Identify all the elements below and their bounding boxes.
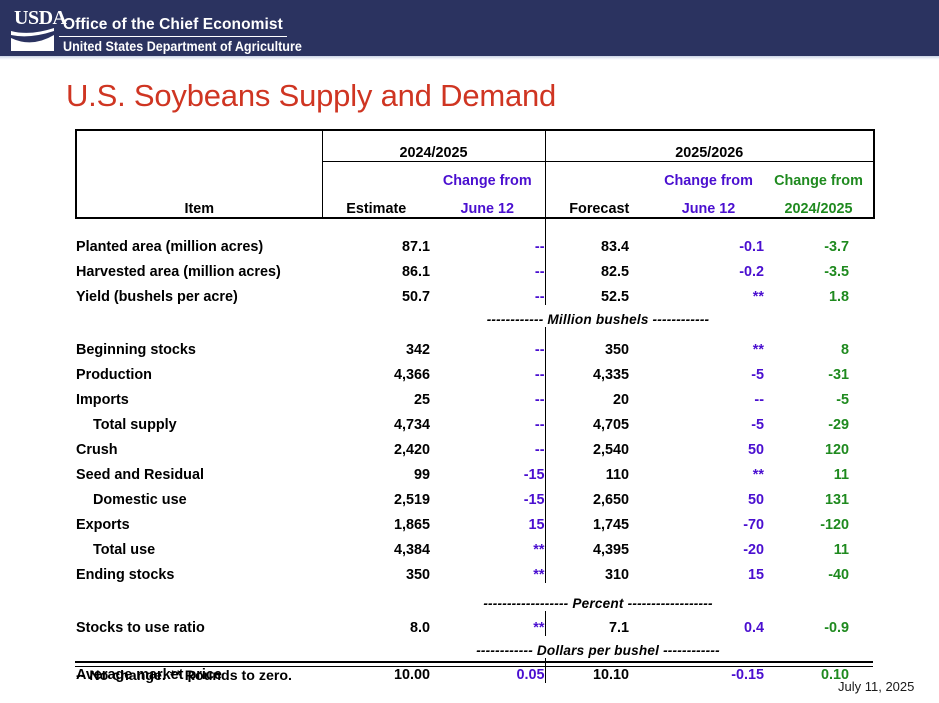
row-change-june-2425: **: [430, 558, 545, 583]
row-label: Ending stocks: [76, 558, 322, 583]
row-forecast: 1,745: [545, 508, 653, 533]
table-row: Ending stocks 350 ** 310 15 -40: [76, 558, 874, 583]
header-estimate: Estimate: [322, 189, 430, 218]
usda-swoosh-icon: [10, 26, 62, 52]
row-change-year: -29: [764, 408, 874, 433]
group-header-2025-2026: 2025/2026: [545, 130, 874, 162]
unit-caption-blank: [76, 636, 322, 658]
header-change-year-line1: Change from: [764, 162, 874, 190]
row-label: Imports: [76, 383, 322, 408]
row-estimate: 2,420: [322, 433, 430, 458]
row-label: Planted area (million acres): [76, 230, 322, 255]
unit-caption-row: ------------ Million bushels -----------…: [76, 305, 874, 327]
spacer-row: [76, 218, 874, 230]
row-change-june-2526: -0.1: [653, 230, 764, 255]
row-change-june-2425: --: [430, 358, 545, 383]
row-change-year: 11: [764, 533, 874, 558]
row-change-year: -120: [764, 508, 874, 533]
header-row-sub-line1: Change from Change from Change from: [76, 162, 874, 190]
row-change-june-2425: --: [430, 280, 545, 305]
row-change-year: -0.9: [764, 611, 874, 636]
header-item-blank: [76, 162, 322, 190]
unit-caption-row: ------------ Dollars per bushel --------…: [76, 636, 874, 658]
table-row: Seed and Residual 99 -15 110 ** 11: [76, 458, 874, 483]
row-change-year: -5: [764, 383, 874, 408]
row-estimate: 50.7: [322, 280, 430, 305]
row-change-june-2526: --: [653, 383, 764, 408]
row-forecast: 110: [545, 458, 653, 483]
table-header: 2024/2025 2025/2026 Change from Change f…: [76, 130, 874, 218]
row-change-june-2425: **: [430, 533, 545, 558]
row-label: Crush: [76, 433, 322, 458]
row-forecast: 2,650: [545, 483, 653, 508]
row-change-june-2526: -70: [653, 508, 764, 533]
date-stamp: July 11, 2025: [838, 679, 914, 694]
row-change-june-2526: -0.2: [653, 255, 764, 280]
row-forecast: 350: [545, 333, 653, 358]
page-title: U.S. Soybeans Supply and Demand: [66, 78, 556, 114]
table-row: Imports 25 -- 20 -- -5: [76, 383, 874, 408]
unit-caption-percent: ------------------ Percent -------------…: [322, 589, 874, 611]
row-forecast: 2,540: [545, 433, 653, 458]
row-forecast: 4,395: [545, 533, 653, 558]
row-estimate: 87.1: [322, 230, 430, 255]
row-estimate: 86.1: [322, 255, 430, 280]
header-change-june-2526-line1: Change from: [653, 162, 764, 190]
row-forecast: 7.1: [545, 611, 653, 636]
spacer-cell: [322, 218, 430, 230]
row-change-year: 131: [764, 483, 874, 508]
unit-caption-million-bushels: ------------ Million bushels -----------…: [322, 305, 874, 327]
header-item: Item: [76, 189, 322, 218]
row-change-june-2425: --: [430, 408, 545, 433]
row-change-june-2526: **: [653, 280, 764, 305]
row-change-year: -3.5: [764, 255, 874, 280]
header-row-sub-line2: Item Estimate June 12 Forecast June 12 2…: [76, 189, 874, 218]
row-forecast: 52.5: [545, 280, 653, 305]
row-label: Domestic use: [76, 483, 322, 508]
table-row: Exports 1,865 15 1,745 -70 -120: [76, 508, 874, 533]
unit-caption-blank: [76, 589, 322, 611]
row-estimate: 99: [322, 458, 430, 483]
spacer-cell: [764, 218, 874, 230]
row-change-june-2425: --: [430, 433, 545, 458]
table-bottom-rule-thick: [75, 661, 873, 663]
row-change-year: 1.8: [764, 280, 874, 305]
table-body: Planted area (million acres) 87.1 -- 83.…: [76, 218, 874, 683]
row-change-june-2425: -15: [430, 458, 545, 483]
row-estimate: 4,366: [322, 358, 430, 383]
table-row: Crush 2,420 -- 2,540 50 120: [76, 433, 874, 458]
row-forecast: 82.5: [545, 255, 653, 280]
row-change-year: 120: [764, 433, 874, 458]
row-label: Total use: [76, 533, 322, 558]
row-label: Stocks to use ratio: [76, 611, 322, 636]
header-forecast: Forecast: [545, 189, 653, 218]
row-forecast: 310: [545, 558, 653, 583]
row-change-june-2526: **: [653, 458, 764, 483]
header-change-year: 2024/2025: [764, 189, 874, 218]
row-change-june-2526: 50: [653, 483, 764, 508]
spacer-cell: [430, 218, 545, 230]
row-change-june-2425: --: [430, 255, 545, 280]
row-change-june-2425: --: [430, 383, 545, 408]
row-label: Exports: [76, 508, 322, 533]
row-change-june-2526: **: [653, 333, 764, 358]
row-forecast: 83.4: [545, 230, 653, 255]
row-forecast: 20: [545, 383, 653, 408]
row-label: Seed and Residual: [76, 458, 322, 483]
banner-underline: [0, 56, 939, 60]
row-change-june-2526: 15: [653, 558, 764, 583]
row-forecast: 4,705: [545, 408, 653, 433]
row-change-june-2526: -5: [653, 408, 764, 433]
row-label: Beginning stocks: [76, 333, 322, 358]
row-estimate: 1,865: [322, 508, 430, 533]
table-row: Total use 4,384 ** 4,395 -20 11: [76, 533, 874, 558]
row-estimate: 342: [322, 333, 430, 358]
header-estimate-line1: [322, 162, 430, 190]
row-label: Harvested area (million acres): [76, 255, 322, 280]
row-change-year: 8: [764, 333, 874, 358]
row-change-june-2526: -5: [653, 358, 764, 383]
usda-logo: USDA: [8, 6, 62, 52]
row-change-june-2526: 50: [653, 433, 764, 458]
row-change-year: -40: [764, 558, 874, 583]
supply-demand-table: 2024/2025 2025/2026 Change from Change f…: [75, 129, 875, 683]
group-header-2024-2025: 2024/2025: [322, 130, 545, 162]
row-change-june-2526: 0.4: [653, 611, 764, 636]
table-row: Beginning stocks 342 -- 350 ** 8: [76, 333, 874, 358]
row-estimate: 4,734: [322, 408, 430, 433]
row-change-year: -3.7: [764, 230, 874, 255]
header-change-june-2425-line1: Change from: [430, 162, 545, 190]
spacer-cell: [545, 218, 653, 230]
header-change-june-2425: June 12: [430, 189, 545, 218]
table-row: Stocks to use ratio 8.0 ** 7.1 0.4 -0.9: [76, 611, 874, 636]
row-change-year: -31: [764, 358, 874, 383]
header-change-june-2526: June 12: [653, 189, 764, 218]
row-estimate: 25: [322, 383, 430, 408]
table-row: Yield (bushels per acre) 50.7 -- 52.5 **…: [76, 280, 874, 305]
banner-divider-rule: [59, 36, 287, 37]
spacer-cell: [653, 218, 764, 230]
row-estimate: 2,519: [322, 483, 430, 508]
spacer-cell: [76, 218, 322, 230]
table-row: Domestic use 2,519 -15 2,650 50 131: [76, 483, 874, 508]
usda-logo-wordmark: USDA: [14, 8, 66, 28]
office-title: Office of the Chief Economist: [63, 16, 283, 34]
unit-caption-dollars-per-bushel: ------------ Dollars per bushel --------…: [322, 636, 874, 658]
row-estimate: 8.0: [322, 611, 430, 636]
header-corner-blank: [76, 130, 322, 162]
table-bottom-rule-thin: [75, 666, 873, 667]
row-change-june-2425: **: [430, 611, 545, 636]
row-change-june-2425: 15: [430, 508, 545, 533]
table-row: Planted area (million acres) 87.1 -- 83.…: [76, 230, 874, 255]
row-change-june-2425: --: [430, 230, 545, 255]
row-estimate: 4,384: [322, 533, 430, 558]
table-row: Total supply 4,734 -- 4,705 -5 -29: [76, 408, 874, 433]
unit-caption-row: ------------------ Percent -------------…: [76, 589, 874, 611]
unit-caption-blank: [76, 305, 322, 327]
row-label: Production: [76, 358, 322, 383]
row-label: Total supply: [76, 408, 322, 433]
row-change-year: 11: [764, 458, 874, 483]
row-label: Yield (bushels per acre): [76, 280, 322, 305]
table-row: Production 4,366 -- 4,335 -5 -31: [76, 358, 874, 383]
row-change-june-2425: --: [430, 333, 545, 358]
header-forecast-line1: [545, 162, 653, 190]
table-row: Harvested area (million acres) 86.1 -- 8…: [76, 255, 874, 280]
row-change-june-2425: -15: [430, 483, 545, 508]
row-change-june-2526: -20: [653, 533, 764, 558]
department-name: United States Department of Agriculture: [63, 39, 302, 54]
header-row-groups: 2024/2025 2025/2026: [76, 130, 874, 162]
row-forecast: 4,335: [545, 358, 653, 383]
table-footnote: -- No change. ** Rounds to zero.: [76, 668, 292, 684]
row-estimate: 350: [322, 558, 430, 583]
supply-demand-table-container: 2024/2025 2025/2026 Change from Change f…: [75, 129, 873, 683]
